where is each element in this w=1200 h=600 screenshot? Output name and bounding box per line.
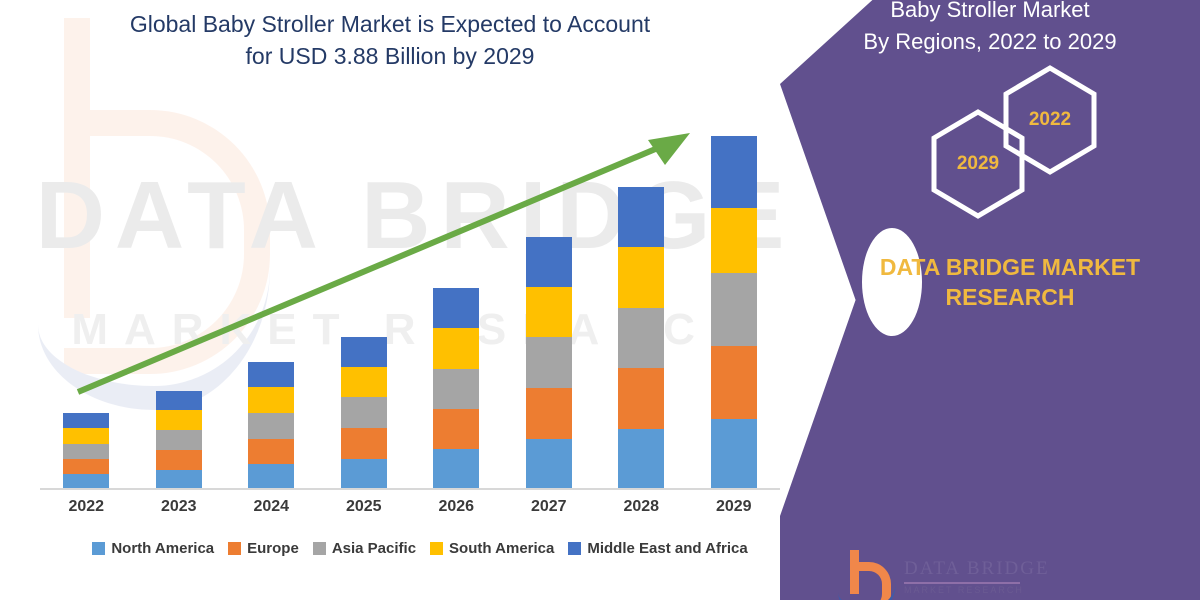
bar-segment — [63, 444, 109, 459]
bar-segment — [156, 430, 202, 450]
x-axis-label-2022: 2022 — [41, 498, 131, 516]
bar-2025[interactable] — [341, 337, 387, 490]
chart-legend: North AmericaEuropeAsia PacificSouth Ame… — [40, 540, 800, 557]
footer-logo-swoosh — [838, 582, 896, 600]
bar-segment — [433, 409, 479, 449]
infographic-root: DATA BRIDGE MARKET RESEARCH Global Baby … — [0, 0, 1200, 600]
hexagon-end-year-label: 2029 — [957, 153, 999, 175]
bar-segment — [711, 346, 757, 419]
legend-label: Europe — [247, 540, 299, 557]
x-axis-label-2023: 2023 — [134, 498, 224, 516]
legend-swatch-icon — [313, 542, 326, 555]
panel-title-line-1: Baby Stroller Market — [802, 0, 1178, 26]
bar-2022[interactable] — [63, 413, 109, 490]
brand-line-1: DATA BRIDGE MARKET — [880, 254, 1140, 280]
legend-label: North America — [111, 540, 214, 557]
footer-logo-tagline: MARKET RESEARCH — [904, 585, 1024, 595]
legend-item[interactable]: South America — [430, 540, 554, 557]
footer-logo-name: DATA BRIDGE — [904, 558, 1050, 580]
legend-label: Asia Pacific — [332, 540, 416, 557]
bar-segment — [433, 328, 479, 369]
bar-segment — [711, 273, 757, 346]
bar-segment — [526, 337, 572, 388]
x-axis-labels: 20222023202420252026202720282029 — [40, 498, 780, 526]
footer-logo-rule — [904, 582, 1020, 584]
bar-segment — [63, 413, 109, 428]
legend-swatch-icon — [228, 542, 241, 555]
legend-label: Middle East and Africa — [587, 540, 747, 557]
legend-swatch-icon — [430, 542, 443, 555]
bar-segment — [618, 187, 664, 247]
bar-segment — [248, 464, 294, 490]
bar-segment — [711, 419, 757, 490]
bar-segment — [526, 439, 572, 490]
bar-segment — [711, 136, 757, 208]
bar-2028[interactable] — [618, 187, 664, 490]
bar-segment — [618, 308, 664, 368]
bar-segment — [526, 237, 572, 287]
bar-segment — [341, 459, 387, 490]
page-title-line-2: for USD 3.88 Billion by 2029 — [90, 40, 690, 72]
bar-2029[interactable] — [711, 136, 757, 490]
brand-name: DATA BRIDGE MARKET RESEARCH — [820, 252, 1200, 312]
footer-logo: DATA BRIDGE MARKET RESEARCH — [838, 548, 1068, 600]
brand-line-2: RESEARCH — [820, 282, 1200, 312]
legend-swatch-icon — [568, 542, 581, 555]
bar-segment — [248, 387, 294, 413]
panel-title-line-2: By Regions, 2022 to 2029 — [802, 26, 1178, 58]
bar-segment — [526, 388, 572, 439]
bar-segment — [63, 459, 109, 474]
x-axis-label-2024: 2024 — [226, 498, 316, 516]
page-title-line-1: Global Baby Stroller Market is Expected … — [130, 11, 650, 37]
hexagon-badge-start-year: 2022 — [1000, 64, 1100, 176]
x-axis-label-2026: 2026 — [411, 498, 501, 516]
bar-segment — [711, 208, 757, 273]
bar-segment — [63, 428, 109, 444]
bar-segment — [341, 428, 387, 459]
bar-2023[interactable] — [156, 391, 202, 490]
bar-segment — [341, 397, 387, 428]
hexagon-badges: 2029 2022 — [820, 88, 1200, 208]
bar-segment — [618, 429, 664, 490]
x-axis-label-2029: 2029 — [689, 498, 779, 516]
bar-segment — [341, 337, 387, 367]
legend-item[interactable]: Asia Pacific — [313, 540, 416, 557]
bar-segment — [156, 450, 202, 470]
legend-item[interactable]: Middle East and Africa — [568, 540, 747, 557]
bar-2024[interactable] — [248, 362, 294, 490]
bar-2027[interactable] — [526, 237, 572, 490]
hexagon-start-year-label: 2022 — [1029, 109, 1071, 131]
bar-segment — [156, 470, 202, 490]
bar-2026[interactable] — [433, 288, 479, 490]
x-axis-label-2028: 2028 — [596, 498, 686, 516]
bar-segment — [248, 413, 294, 439]
panel-title: Baby Stroller Market By Regions, 2022 to… — [780, 0, 1200, 58]
x-axis-label-2027: 2027 — [504, 498, 594, 516]
legend-label: South America — [449, 540, 554, 557]
x-axis-line — [40, 488, 780, 490]
bar-segment — [248, 439, 294, 464]
bar-segment — [618, 247, 664, 308]
bar-segment — [248, 362, 294, 387]
page-title: Global Baby Stroller Market is Expected … — [90, 8, 690, 72]
bar-segment — [433, 369, 479, 409]
bar-segment — [156, 410, 202, 430]
stacked-bar-plot — [40, 100, 780, 490]
legend-item[interactable]: North America — [92, 540, 214, 557]
legend-swatch-icon — [92, 542, 105, 555]
x-axis-label-2025: 2025 — [319, 498, 409, 516]
bar-segment — [341, 367, 387, 397]
bar-segment — [433, 288, 479, 328]
bar-segment — [618, 368, 664, 429]
legend-item[interactable]: Europe — [228, 540, 299, 557]
bar-segment — [156, 391, 202, 410]
bar-segment — [526, 287, 572, 337]
chart-area: Global Baby Stroller Market is Expected … — [0, 0, 820, 600]
bar-segment — [433, 449, 479, 490]
